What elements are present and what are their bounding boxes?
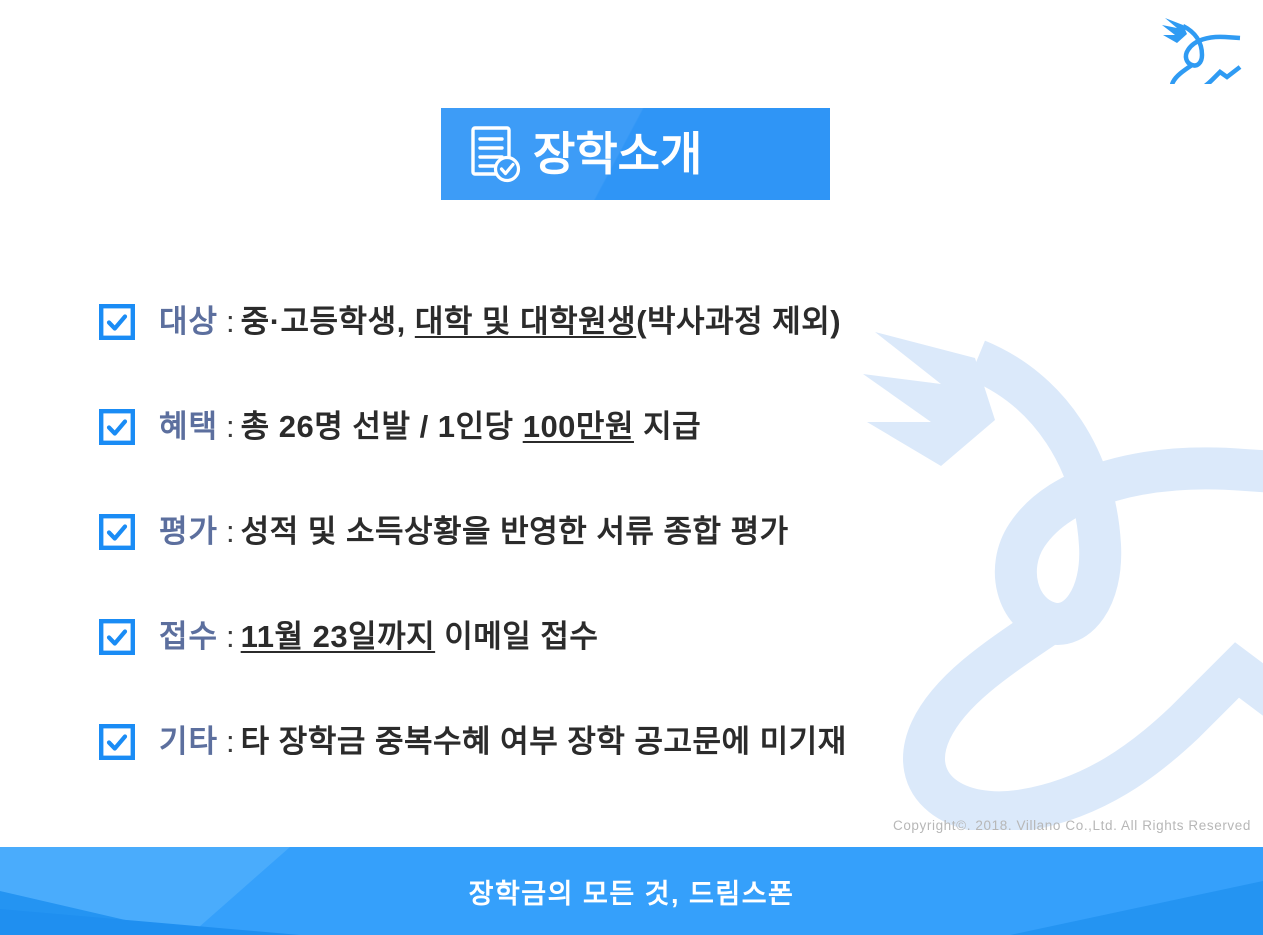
list-item: 대상:중·고등학생, 대학 및 대학원생(박사과정 제외) — [99, 296, 1159, 348]
checkbox-checked-icon — [99, 409, 135, 445]
list-item-separator: : — [218, 619, 241, 654]
list-item-body: 중·고등학생, 대학 및 대학원생(박사과정 제외) — [241, 304, 841, 339]
checkbox-checked-icon — [99, 724, 135, 760]
list-item: 기타:타 장학금 중복수혜 여부 장학 공고문에 미기재 — [99, 716, 1159, 768]
list-item-separator: : — [218, 514, 241, 549]
scholarship-info-list: 대상:중·고등학생, 대학 및 대학원생(박사과정 제외) 혜택:총 26명 선… — [99, 296, 1159, 768]
list-item-body: 타 장학금 중복수혜 여부 장학 공고문에 미기재 — [241, 724, 847, 759]
list-item: 평가:성적 및 소득상황을 반영한 서류 종합 평가 — [99, 506, 1159, 558]
list-item-body: 총 26명 선발 / 1인당 100만원 지급 — [241, 409, 701, 444]
list-item-separator: : — [218, 724, 241, 759]
document-check-icon — [467, 124, 523, 184]
page-title-banner: 장학소개 — [441, 108, 830, 200]
list-item-label: 대상 — [159, 304, 218, 339]
copyright-text: Copyright©. 2018. Villano Co.,Ltd. All R… — [893, 818, 1251, 833]
list-item: 접수:11월 23일까지 이메일 접수 — [99, 611, 1159, 663]
list-item-body: 11월 23일까지 이메일 접수 — [241, 619, 599, 654]
checkbox-checked-icon — [99, 619, 135, 655]
list-item-label: 접수 — [159, 619, 218, 654]
list-item-label: 평가 — [159, 514, 218, 549]
footer-bar: 장학금의 모든 것, 드림스폰 — [0, 847, 1263, 935]
bird-wing-logo-icon — [1157, 12, 1245, 84]
checkbox-checked-icon — [99, 304, 135, 340]
list-item-separator: : — [218, 409, 241, 444]
list-item-label: 혜택 — [159, 409, 218, 444]
page-title-text: 장학소개 — [533, 131, 702, 177]
list-item-body: 성적 및 소득상황을 반영한 서류 종합 평가 — [241, 514, 789, 549]
slide-canvas: 장학소개 대상:중·고등학생, 대학 및 대학원생(박사과정 제외) 혜택:총 … — [0, 0, 1263, 935]
list-item-separator: : — [218, 304, 241, 339]
footer-slogan: 장학금의 모든 것, 드림스폰 — [0, 847, 1263, 935]
checkbox-checked-icon — [99, 514, 135, 550]
list-item: 혜택:총 26명 선발 / 1인당 100만원 지급 — [99, 401, 1159, 453]
list-item-label: 기타 — [159, 724, 218, 759]
